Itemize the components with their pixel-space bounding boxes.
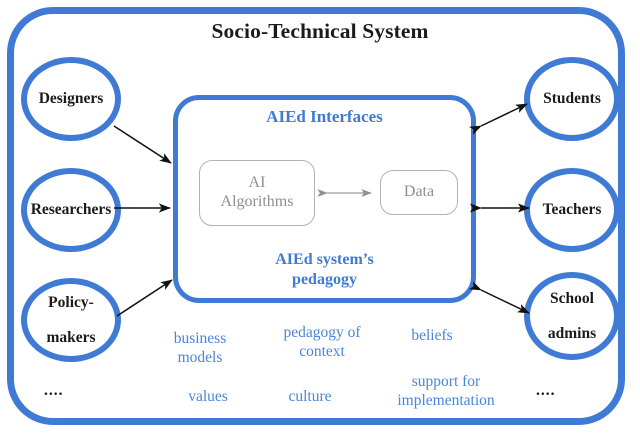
factor-support-line1: support for bbox=[412, 373, 480, 390]
factor-business-models-line1: business bbox=[174, 330, 227, 347]
factor-beliefs: beliefs bbox=[386, 327, 478, 346]
actor-policy-makers-line2: makers bbox=[42, 329, 99, 346]
actor-school-admins: School admins bbox=[524, 272, 620, 360]
data-line1: Data bbox=[404, 183, 434, 200]
factor-support-line2: implementation bbox=[397, 392, 494, 409]
ai-algorithms-line1: AI bbox=[249, 174, 266, 191]
actor-students: Students bbox=[524, 57, 620, 141]
aied-pedagogy-line1: AIEd system’s bbox=[275, 251, 374, 268]
aied-interfaces-label: AIEd Interfaces bbox=[173, 107, 476, 127]
ellipsis-right: .... bbox=[536, 382, 556, 400]
data-box: Data bbox=[380, 170, 458, 215]
actor-policy-makers-line1: Policy- bbox=[42, 294, 99, 311]
aied-pedagogy-label: AIEd system’s pedagogy bbox=[173, 250, 476, 290]
diagram-canvas: Socio-Technical System AIEd Interfaces A… bbox=[0, 0, 640, 439]
actor-researchers-label: Researchers bbox=[27, 201, 116, 218]
aied-pedagogy-line2: pedagogy bbox=[292, 271, 357, 288]
factor-pedagogy-of-context-line1: pedagogy of bbox=[283, 324, 360, 341]
actor-designers-label: Designers bbox=[35, 90, 108, 107]
actor-teachers-label: Teachers bbox=[539, 201, 606, 218]
ai-algorithms-box: AI Algorithms bbox=[199, 160, 315, 226]
ai-algorithms-line2: Algorithms bbox=[221, 193, 294, 210]
actor-teachers: Teachers bbox=[524, 168, 620, 252]
factor-pedagogy-of-context: pedagogy of context bbox=[258, 324, 386, 361]
factor-support-for-implementation: support for implementation bbox=[370, 373, 522, 410]
actor-school-admins-line1: School bbox=[544, 290, 600, 307]
actor-school-admins-label: School admins bbox=[540, 290, 604, 342]
ellipsis-left: .... bbox=[44, 382, 64, 400]
actor-designers: Designers bbox=[21, 57, 121, 141]
page-title: Socio-Technical System bbox=[0, 19, 640, 44]
actor-researchers: Researchers bbox=[21, 168, 121, 252]
factor-pedagogy-of-context-line2: context bbox=[299, 343, 345, 360]
factor-business-models-line2: models bbox=[178, 349, 223, 366]
factor-values: values bbox=[158, 388, 258, 407]
factor-culture: culture bbox=[258, 388, 362, 407]
actor-school-admins-line2: admins bbox=[544, 325, 600, 342]
actor-policy-makers: Policy- makers bbox=[21, 278, 121, 362]
actor-policy-makers-label: Policy- makers bbox=[38, 294, 103, 346]
actor-students-label: Students bbox=[539, 90, 605, 107]
factor-business-models: business models bbox=[140, 330, 260, 367]
